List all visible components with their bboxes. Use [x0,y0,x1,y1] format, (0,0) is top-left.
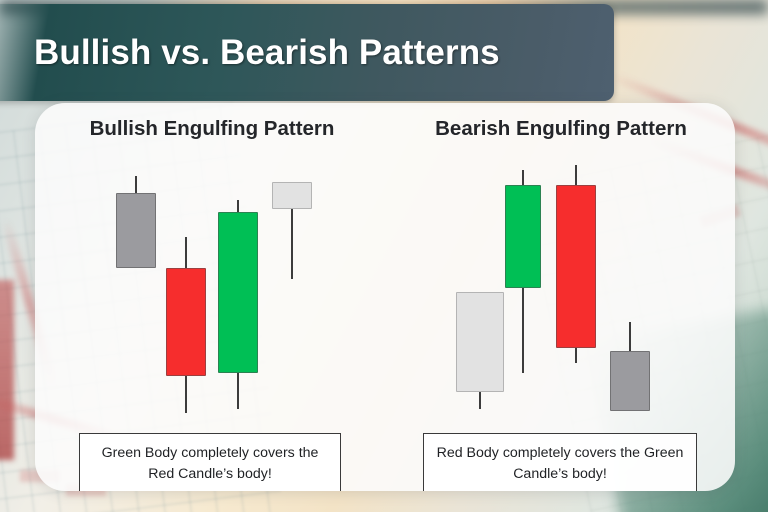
caption-box-bearish: Red Body completely covers the Green Can… [423,433,697,491]
content-card: Bullish Engulfing Pattern Bearish Engulf… [35,103,735,491]
candle-body-light [272,182,312,209]
caption-text-bearish: Red Body completely covers the Green Can… [432,443,688,484]
background-red-bar [0,280,14,460]
candle-body-bearish [166,268,206,376]
title-banner: Bullish vs. Bearish Patterns [0,4,614,101]
candle-wick [135,176,137,193]
candle-body-bearish [556,185,596,348]
candle-body-bullish [505,185,541,288]
candle-body-bullish [218,212,258,373]
panel-heading-bullish: Bullish Engulfing Pattern [35,117,385,141]
page-title: Bullish vs. Bearish Patterns [34,33,500,73]
infographic-canvas: Bullish vs. Bearish Patterns Bullish Eng… [0,0,768,512]
caption-text-bullish: Green Body completely covers the Red Can… [88,443,332,484]
candle-body-light [456,292,504,392]
candle-body-neutral [610,351,650,411]
candle-wick [629,322,631,351]
caption-box-bullish: Green Body completely covers the Red Can… [79,433,341,491]
candle-body-neutral [116,193,156,268]
